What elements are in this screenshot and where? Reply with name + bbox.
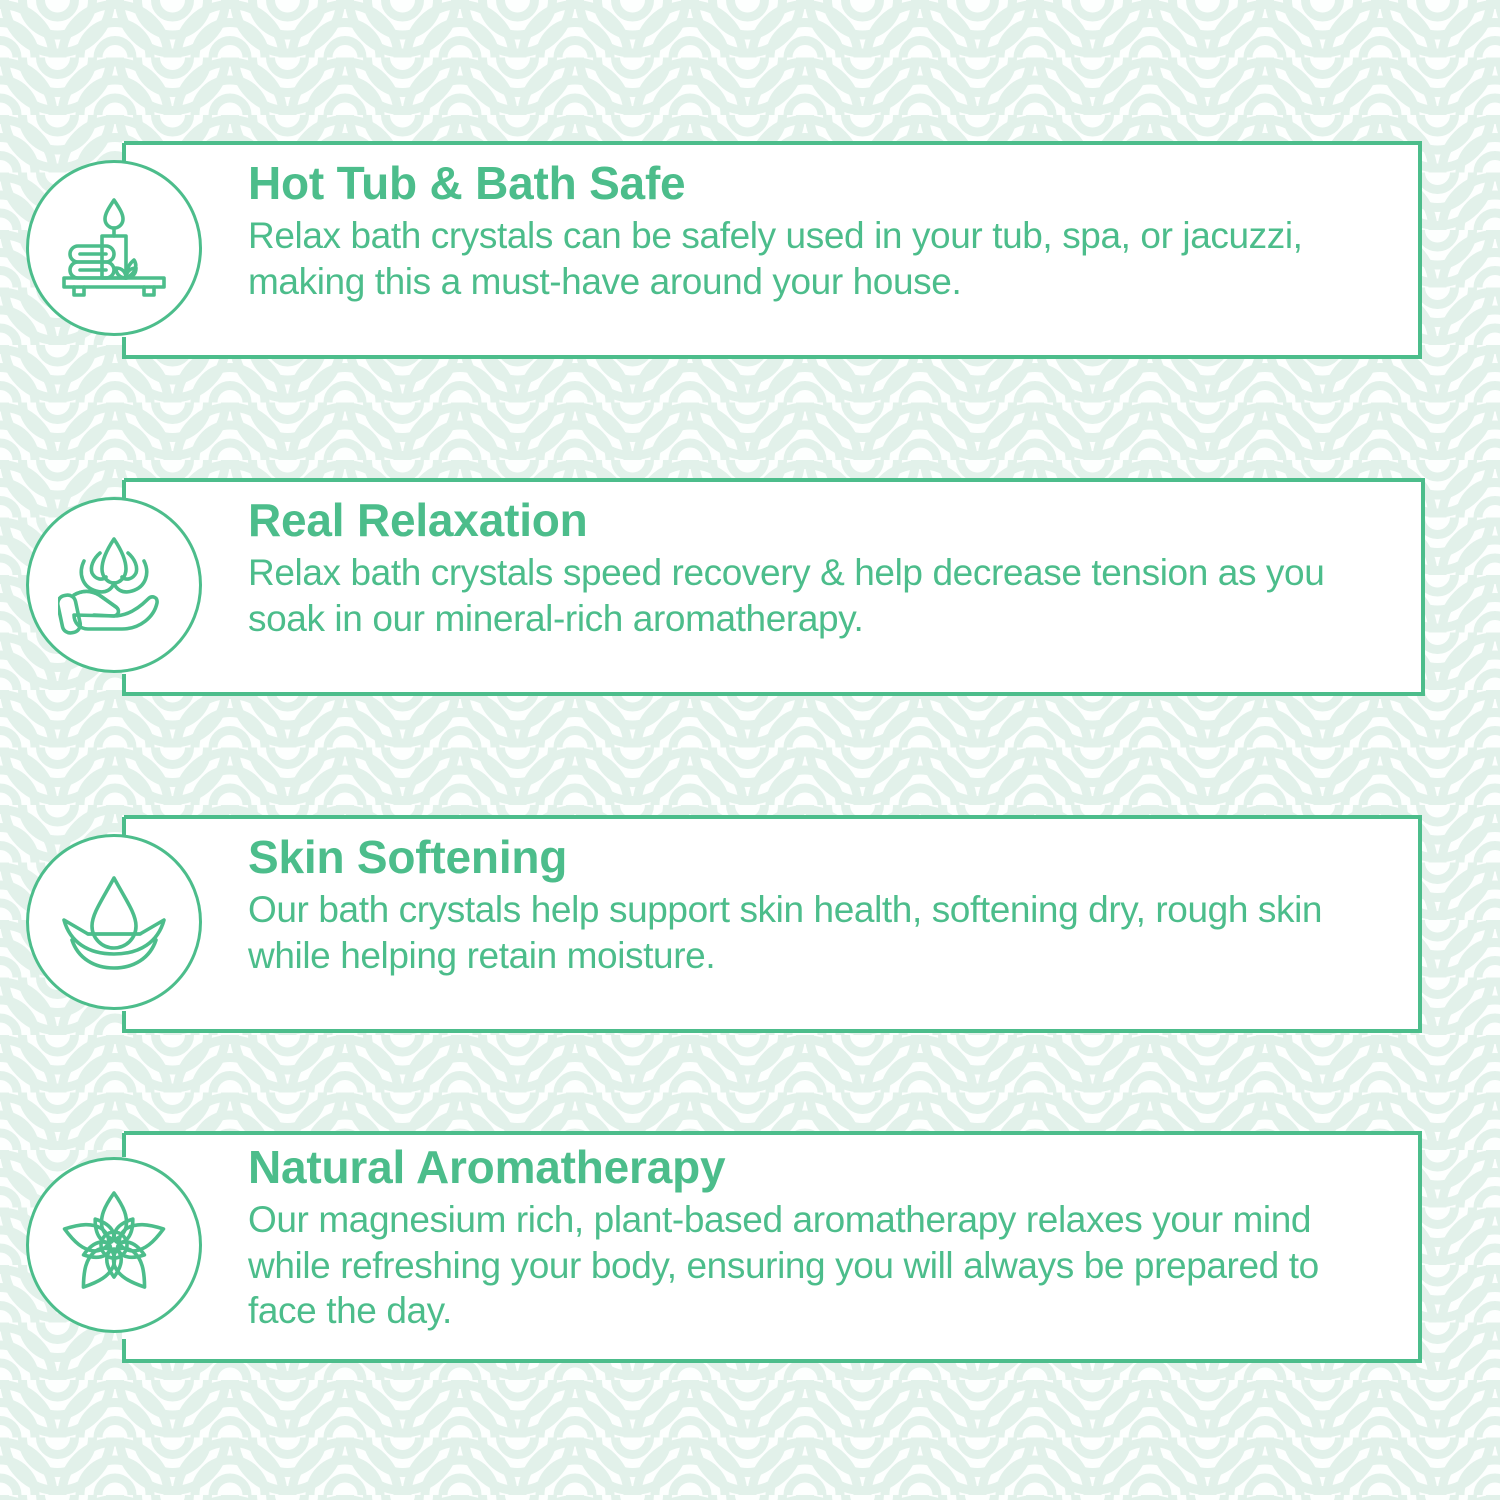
icon-badge-candle-towels (26, 160, 202, 336)
lotus-in-hand-icon (58, 529, 170, 641)
feature-description: Our bath crystals help support skin heal… (248, 887, 1370, 979)
feature-description: Relax bath crystals can be safely used i… (248, 213, 1370, 305)
icon-badge-lotus-in-hand (26, 497, 202, 673)
feature-title: Skin Softening (248, 833, 1370, 883)
feature-title: Real Relaxation (248, 496, 1373, 546)
water-droplet-bowl-icon (58, 866, 170, 978)
feature-title: Natural Aromatherapy (248, 1143, 1370, 1193)
icon-badge-water-droplet-bowl (26, 834, 202, 1010)
feature-description: Relax bath crystals speed recovery & hel… (248, 550, 1373, 642)
feature-card-natural-aromatherapy: Natural Aromatherapy Our magnesium rich,… (122, 1131, 1422, 1363)
infographic-page: Hot Tub & Bath Safe Relax bath crystals … (0, 0, 1500, 1500)
feature-card-hot-tub-bath-safe: Hot Tub & Bath Safe Relax bath crystals … (122, 141, 1422, 359)
feature-description: Our magnesium rich, plant-based aromathe… (248, 1197, 1370, 1335)
candle-towels-icon (58, 192, 170, 304)
feature-title: Hot Tub & Bath Safe (248, 159, 1370, 209)
feature-card-skin-softening: Skin Softening Our bath crystals help su… (122, 815, 1422, 1033)
feature-card-real-relaxation: Real Relaxation Relax bath crystals spee… (122, 478, 1425, 696)
icon-badge-flower-blossom (26, 1157, 202, 1333)
flower-blossom-icon (56, 1187, 172, 1303)
